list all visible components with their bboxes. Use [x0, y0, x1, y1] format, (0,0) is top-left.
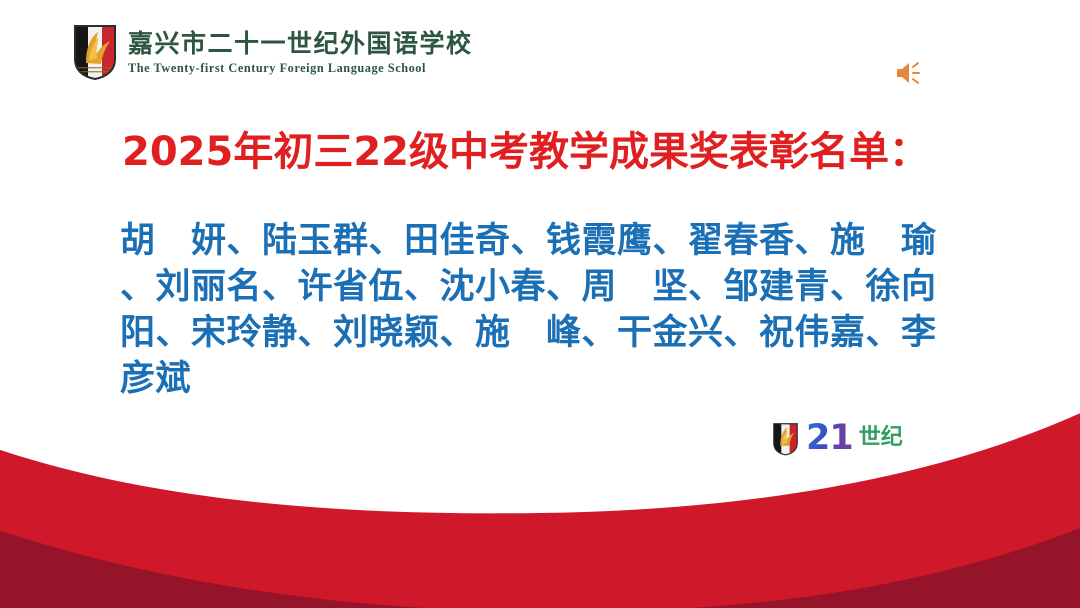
school-shield-crest-icon — [72, 23, 118, 81]
name-line: 彦斌 — [120, 356, 970, 402]
award-name-list: 胡 妍、陆玉群、田佳奇、钱霞鹰、翟春香、施 瑜 、刘丽名、许省伍、沈小春、周 坚… — [120, 218, 970, 402]
logo-number: 21 — [806, 421, 853, 456]
logo-suffix: 世纪 — [859, 427, 903, 451]
name-line: 、刘丽名、许省伍、沈小春、周 坚、邹建青、徐向 — [120, 264, 970, 310]
presentation-slide: 嘉兴市二十一世纪外国语学校 The Twenty-first Century F… — [0, 0, 1080, 608]
name-line: 胡 妍、陆玉群、田佳奇、钱霞鹰、翟春香、施 瑜 — [120, 218, 970, 264]
wave-dark-red — [0, 520, 1080, 608]
school-shield-crest-icon — [772, 422, 799, 456]
school-name-cn: 嘉兴市二十一世纪外国语学校 — [128, 30, 473, 58]
wave-bright-red — [0, 404, 1080, 608]
school-name-en: The Twenty-first Century Foreign Languag… — [128, 61, 473, 76]
footer-brand-logo: 21 世纪 — [772, 421, 903, 456]
school-name-group: 嘉兴市二十一世纪外国语学校 The Twenty-first Century F… — [128, 28, 473, 76]
school-brand: 嘉兴市二十一世纪外国语学校 The Twenty-first Century F… — [72, 23, 473, 81]
name-line: 阳、宋玲静、刘晓颖、施 峰、干金兴、祝伟嘉、李 — [120, 310, 970, 356]
slide-title: 2025年初三22级中考教学成果奖表彰名单： — [122, 127, 929, 177]
speaker-volume-icon[interactable] — [893, 58, 925, 88]
